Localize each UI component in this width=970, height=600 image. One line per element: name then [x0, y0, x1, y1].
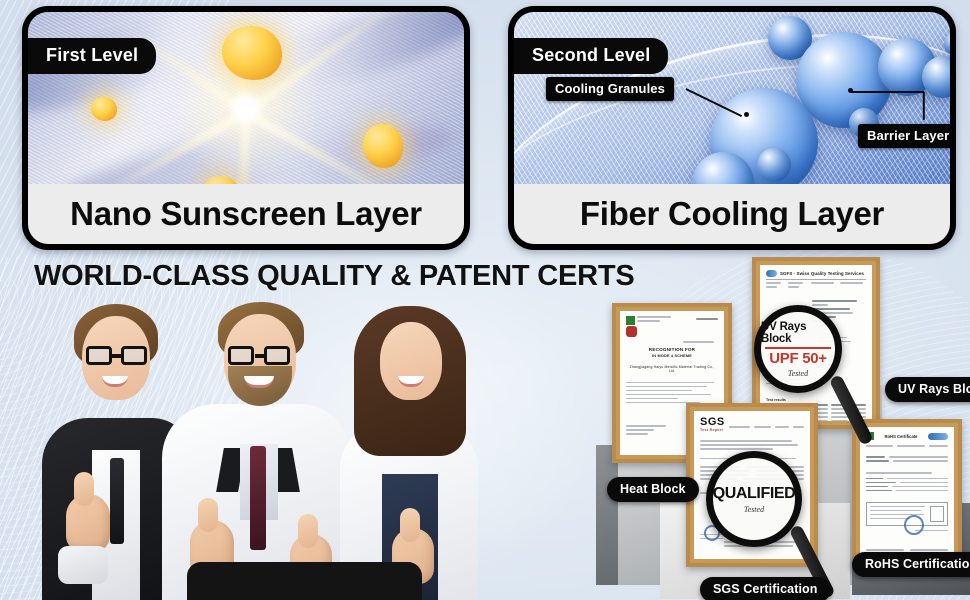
magnifier-lens-qualified: QUALIFIED Tested: [706, 451, 802, 547]
layer-card-second[interactable]: Cooling Granules Barrier Layer Second Le…: [508, 6, 956, 250]
recognition-company: Zhangjiagang Haiyu Metallic Material Tra…: [626, 365, 718, 373]
leader-dot-cooling-granules: [744, 112, 749, 117]
infographic-canvas: First Level Nano Sunscreen Layer: [0, 0, 970, 600]
label-heat-block: Heat Block: [607, 477, 699, 502]
recognition-heading: RECOGNITION FOR: [626, 347, 718, 352]
label-rohs-certification: RoHS Certification: [852, 552, 970, 577]
necktie: [110, 458, 124, 544]
person-technician: [340, 300, 480, 600]
person-scientist: [162, 300, 352, 600]
page-headline: WORLD-CLASS QUALITY & PATENT CERTS: [34, 260, 635, 293]
badge-first-level: First Level: [28, 38, 156, 74]
magnifier-uv-rule: [765, 347, 831, 349]
layer-card-first[interactable]: First Level Nano Sunscreen Layer: [22, 6, 470, 250]
certificates-cluster: RECOGNITION FOR IN MODE 4 SCHEME Zhangji…: [590, 255, 970, 600]
caption-text-fiber-cooling-layer: Fiber Cooling Layer: [580, 195, 884, 233]
eyeglasses-scientist: [228, 346, 292, 366]
leader-line-barrier-layer-horizontal: [851, 91, 924, 93]
magnifier-qualified-signature: Tested: [744, 505, 764, 514]
sgfs-header: SGFS · Swiss Quality Testing Services: [780, 271, 864, 276]
layer-cards-row: First Level Nano Sunscreen Layer: [0, 0, 970, 258]
leader-dot-barrier-layer: [848, 88, 853, 93]
callout-barrier-layer: Barrier Layer: [858, 124, 950, 148]
uv-rays-magnifier[interactable]: UV Rays Block UPF 50+ Tested: [754, 305, 874, 455]
magnifier-handle-uv: [829, 374, 874, 446]
label-sgs-certification: SGS Certification: [700, 577, 831, 600]
rohs-blue-stamp: [904, 515, 924, 535]
sgs-logo: SGS: [700, 416, 725, 428]
shirt-cuff-businessman: [58, 546, 108, 584]
rohs-heading: RoHS Certificate: [877, 434, 925, 439]
necktie-scientist: [250, 446, 266, 550]
leader-line-barrier-layer-vertical: [923, 92, 925, 120]
caption-first-level: Nano Sunscreen Layer: [28, 184, 464, 244]
laptop-foreground: [187, 562, 422, 600]
label-uv-rays-block: UV Rays Block: [885, 377, 970, 402]
professionals-thumbs-up-photo: [0, 300, 472, 600]
caption-text-nano-sunscreen-layer: Nano Sunscreen Layer: [70, 195, 422, 233]
magnifier-uv-line2: UPF 50+: [769, 350, 827, 367]
thumbs-up-hand-businessman: [66, 494, 110, 552]
recognition-subheading: IN MODE 4 SCHEME: [626, 354, 718, 358]
magnifier-uv-line1: UV Rays Block: [761, 321, 835, 345]
magnifier-uv-signature: Tested: [788, 369, 808, 378]
face-technician: [380, 322, 442, 400]
badge-second-level: Second Level: [514, 38, 668, 74]
sgs-sub: Test Report: [700, 428, 725, 432]
magnifier-qualified-text: QUALIFIED: [713, 485, 796, 503]
callout-cooling-granules: Cooling Granules: [546, 77, 674, 101]
caption-second-level: Fiber Cooling Layer: [514, 184, 950, 244]
eyeglasses-businessman: [86, 346, 148, 366]
magnifier-lens-uv: UV Rays Block UPF 50+ Tested: [754, 305, 842, 393]
